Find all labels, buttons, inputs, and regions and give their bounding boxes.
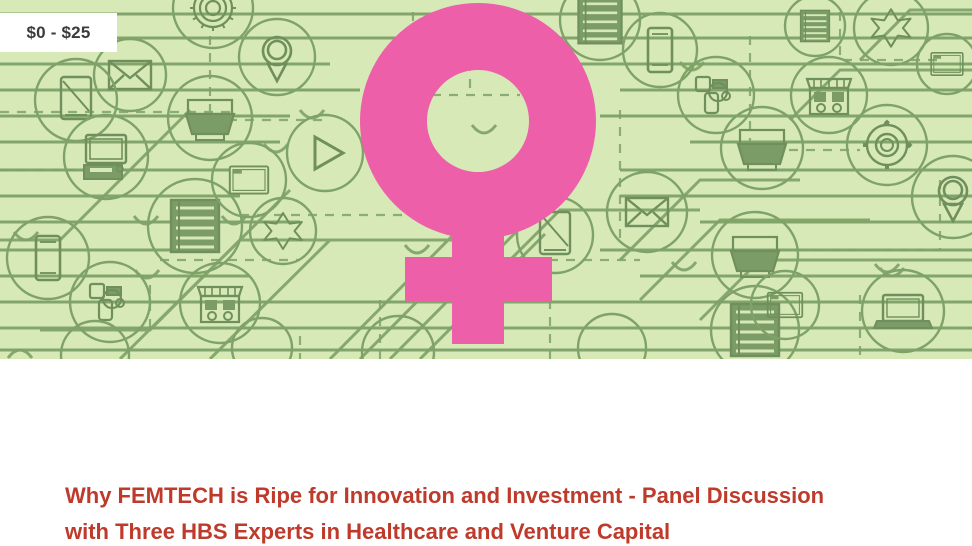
event-details-section: Why FEMTECH is Ripe for Innovation and I… [0,359,972,546]
event-hero-banner[interactable]: $0 - $25 [0,0,972,359]
event-title-link[interactable]: Why FEMTECH is Ripe for Innovation and I… [65,478,865,546]
circuit-board-illustration [0,0,972,359]
price-range-badge: $0 - $25 [0,13,117,52]
price-range-label: $0 - $25 [27,23,91,43]
event-listing-page: $0 - $25 Why FEMTECH is Ripe for Innovat… [0,0,972,546]
